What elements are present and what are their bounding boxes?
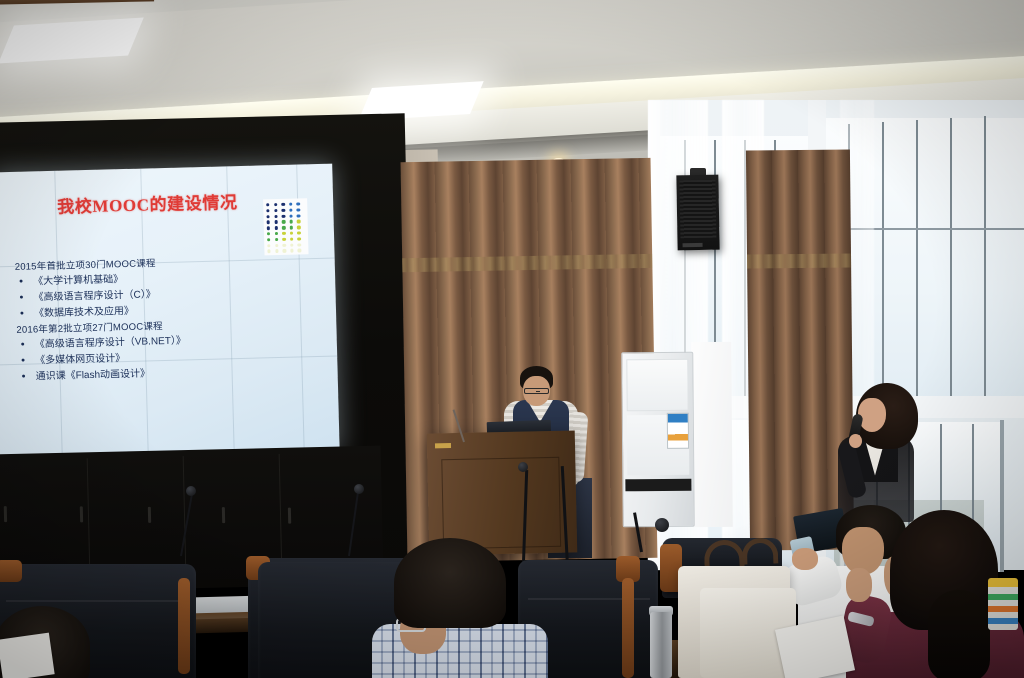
logo-dot bbox=[275, 244, 278, 247]
logo-dot bbox=[267, 232, 270, 235]
ac-display-strip bbox=[625, 479, 691, 492]
logo-dot bbox=[297, 202, 300, 205]
logo-dot bbox=[297, 220, 300, 223]
cabinet-handle[interactable] bbox=[222, 507, 225, 523]
floor-standing-ac[interactable] bbox=[621, 352, 695, 528]
logo-dot bbox=[266, 203, 269, 206]
chair-wood-cap bbox=[0, 560, 22, 582]
ac-top-panel bbox=[626, 359, 688, 412]
logo-dot bbox=[290, 237, 293, 240]
logo-dot bbox=[289, 214, 292, 217]
glasses-icon bbox=[524, 388, 549, 394]
logo-dot bbox=[289, 208, 292, 211]
window-mullion bbox=[916, 120, 918, 402]
window-mullion bbox=[1000, 420, 1004, 572]
dot-matrix-logo-icon bbox=[263, 198, 308, 255]
cabinet-divider bbox=[87, 458, 91, 576]
curtain-accent-band bbox=[747, 253, 851, 268]
slide-title: 我校MOOC的建设情况 bbox=[57, 188, 238, 218]
cabinet-handle[interactable] bbox=[4, 506, 7, 522]
logo-dot bbox=[266, 209, 269, 212]
cabinet-divider bbox=[183, 456, 187, 574]
logo-dot bbox=[267, 226, 270, 229]
logo-dot bbox=[297, 208, 300, 211]
window-mullion bbox=[882, 122, 884, 402]
window-mullion bbox=[950, 118, 952, 402]
cabinet-divider bbox=[279, 454, 283, 572]
logo-dot bbox=[290, 232, 293, 235]
logo-dot bbox=[290, 249, 293, 252]
thermos-bottle bbox=[650, 612, 672, 678]
logo-dot bbox=[274, 226, 277, 229]
logo-dot bbox=[282, 243, 285, 246]
curtain-accent-band bbox=[402, 254, 652, 272]
conference-room-photo: 我校MOOC的建设情况 2015年首批立项30门MOOC课程 《大学计算机基础》… bbox=[0, 0, 1024, 678]
logo-dot bbox=[298, 243, 301, 246]
speaker-brand-plate bbox=[683, 243, 703, 247]
logo-dot bbox=[289, 220, 292, 223]
logo-dot bbox=[282, 226, 285, 229]
microphone-head-icon bbox=[186, 486, 196, 496]
logo-dot bbox=[281, 203, 284, 206]
ac-energy-label bbox=[667, 413, 689, 449]
speaker-hand bbox=[849, 434, 862, 448]
microphone-head-icon bbox=[518, 462, 528, 472]
logo-dot bbox=[290, 243, 293, 246]
logo-dot bbox=[283, 249, 286, 252]
logo-dot bbox=[282, 220, 285, 223]
logo-dot bbox=[290, 226, 293, 229]
wooden-podium bbox=[427, 430, 578, 555]
cabinet-handle[interactable] bbox=[80, 506, 83, 522]
cabinet-handle[interactable] bbox=[288, 508, 291, 524]
podium-name-plate bbox=[435, 443, 451, 448]
window-mullion bbox=[984, 116, 986, 402]
logo-dot bbox=[267, 244, 270, 247]
logo-dot bbox=[282, 214, 285, 217]
speaker-grille bbox=[679, 180, 716, 239]
podium-front-panel bbox=[441, 457, 561, 549]
logo-dot bbox=[297, 231, 300, 234]
ac-side-panel bbox=[691, 342, 733, 527]
paper-document bbox=[0, 633, 55, 678]
attendee-ponytail bbox=[928, 590, 990, 678]
logo-dot bbox=[274, 209, 277, 212]
logo-dot bbox=[275, 238, 278, 241]
logo-dot bbox=[275, 249, 278, 252]
logo-dot bbox=[297, 237, 300, 240]
logo-dot bbox=[282, 232, 285, 235]
logo-dot bbox=[274, 220, 277, 223]
logo-dot bbox=[274, 203, 277, 206]
projection-screen: 我校MOOC的建设情况 2015年首批立项30门MOOC课程 《大学计算机基础》… bbox=[0, 164, 340, 461]
logo-dot bbox=[297, 226, 300, 229]
chair-leg bbox=[178, 578, 190, 674]
chair-leg bbox=[622, 578, 634, 678]
microphone-head-icon bbox=[655, 518, 669, 532]
logo-dot bbox=[297, 214, 300, 217]
speaker-face bbox=[858, 398, 886, 432]
logo-dot bbox=[267, 238, 270, 241]
logo-dot bbox=[266, 215, 269, 218]
logo-dot bbox=[267, 221, 270, 224]
logo-dot bbox=[282, 238, 285, 241]
wall-speaker bbox=[676, 175, 719, 251]
attendee-hand bbox=[792, 548, 818, 570]
cabinet-handle[interactable] bbox=[148, 507, 151, 523]
logo-dot bbox=[282, 209, 285, 212]
attendee-hair bbox=[394, 538, 506, 628]
stacked-cups bbox=[988, 578, 1018, 630]
logo-dot bbox=[298, 249, 301, 252]
logo-dot bbox=[275, 232, 278, 235]
chair-seam bbox=[6, 600, 188, 602]
logo-dot bbox=[289, 203, 292, 206]
microphone-head-icon bbox=[354, 484, 364, 494]
logo-dot bbox=[274, 215, 277, 218]
logo-dot bbox=[267, 250, 270, 253]
attendee-plaid-shirt bbox=[372, 624, 548, 678]
attendee-hand bbox=[846, 568, 872, 602]
slide-body: 2015年首批立项30门MOOC课程 《大学计算机基础》 《高级语言程序设计（C… bbox=[15, 253, 278, 386]
